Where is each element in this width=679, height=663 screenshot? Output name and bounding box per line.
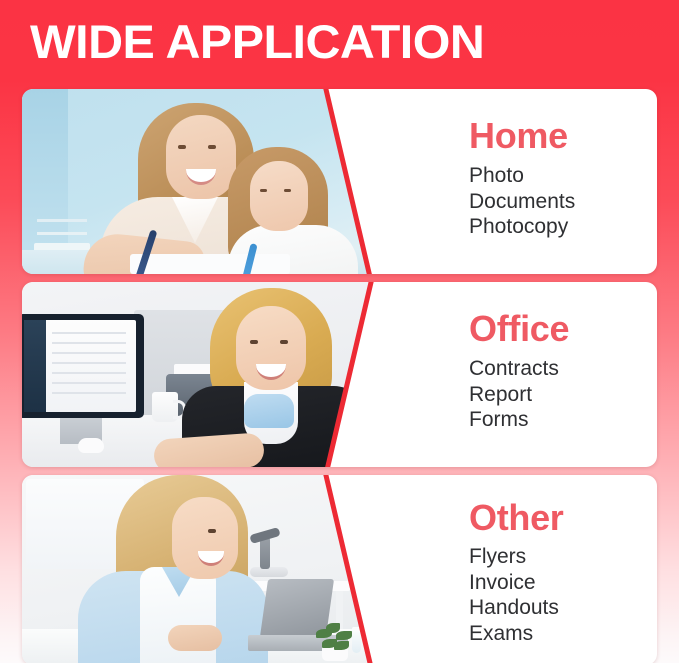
card-text-panel-office: Office Contracts Report Forms bbox=[402, 282, 657, 467]
list-item: Report bbox=[469, 382, 657, 408]
application-card-other[interactable]: Other Flyers Invoice Handouts Exams bbox=[22, 475, 657, 663]
card-photo-home bbox=[22, 89, 394, 274]
list-item: Contracts bbox=[469, 356, 657, 382]
page-title: WIDE APPLICATION bbox=[30, 14, 484, 70]
list-item: Photocopy bbox=[469, 214, 657, 240]
card-list-home: Photo Documents Photocopy bbox=[469, 163, 657, 240]
photo-scene-home-writing bbox=[22, 89, 394, 274]
card-photo-office bbox=[22, 282, 394, 467]
application-card-office[interactable]: Office Contracts Report Forms bbox=[22, 282, 657, 467]
list-item: Invoice bbox=[469, 570, 657, 596]
list-item: Exams bbox=[469, 621, 657, 647]
list-item: Flyers bbox=[469, 544, 657, 570]
card-list-other: Flyers Invoice Handouts Exams bbox=[469, 544, 657, 646]
list-item: Documents bbox=[469, 189, 657, 215]
card-heading-home: Home bbox=[469, 115, 657, 157]
wide-application-banner: WIDE APPLICATION bbox=[0, 0, 679, 663]
photo-scene-office-desk bbox=[22, 282, 394, 467]
card-text-panel-home: Home Photo Documents Photocopy bbox=[402, 89, 657, 274]
list-item: Forms bbox=[469, 407, 657, 433]
photo-scene-lab-laptop bbox=[22, 475, 394, 663]
card-heading-other: Other bbox=[469, 497, 657, 539]
card-photo-other bbox=[22, 475, 394, 663]
card-list-office: Contracts Report Forms bbox=[469, 356, 657, 433]
card-text-panel-other: Other Flyers Invoice Handouts Exams bbox=[402, 475, 657, 663]
application-card-home[interactable]: Home Photo Documents Photocopy bbox=[22, 89, 657, 274]
card-heading-office: Office bbox=[469, 308, 657, 350]
list-item: Photo bbox=[469, 163, 657, 189]
list-item: Handouts bbox=[469, 595, 657, 621]
